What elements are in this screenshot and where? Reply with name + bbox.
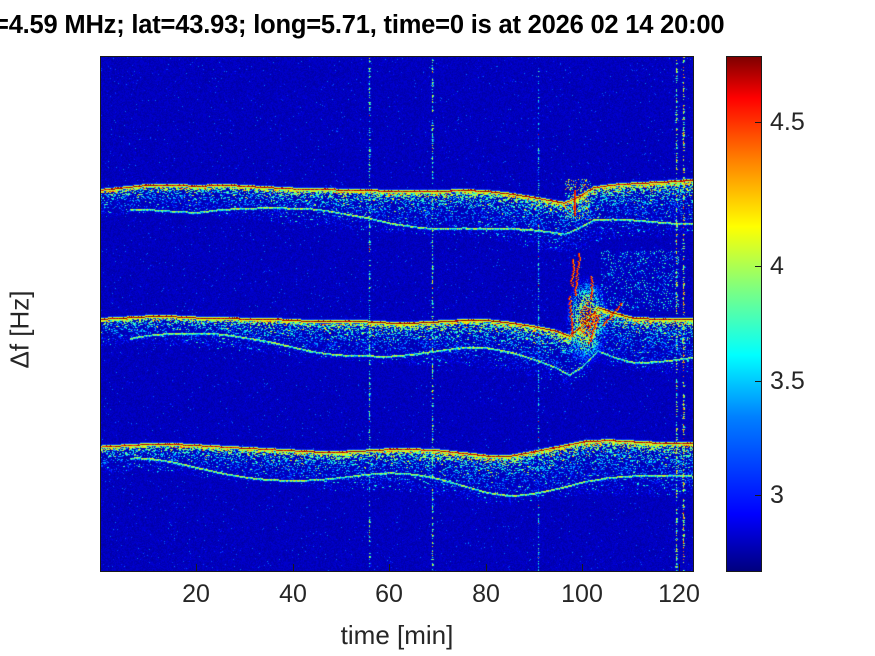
matlab-figure: =4.59 MHz; lat=43.93; long=5.71, time=0 … [0, 0, 875, 656]
x-tick-mark-120 [679, 564, 680, 572]
colorbar-tick-mark-4 [755, 266, 762, 267]
x-tick-label-60: 60 [334, 582, 444, 607]
spectrogram-image [101, 57, 694, 572]
x-tick-label-80: 80 [431, 582, 541, 607]
colorbar-tick-label-3: 3 [770, 483, 784, 508]
colorbar-tick-mark-4_5 [755, 122, 762, 123]
x-tick-mark-100 [582, 564, 583, 572]
y-axis-label: Δf [Hz] [5, 230, 36, 430]
colorbar-tick-label-3_5: 3.5 [770, 369, 805, 394]
x-tick-mark-80 [486, 564, 487, 572]
x-tick-mark-40 [293, 564, 294, 572]
x-tick-label-40: 40 [238, 582, 348, 607]
x-tick-mark-60 [389, 564, 390, 572]
colorbar-tick-label-4: 4 [770, 254, 784, 279]
chart-title: =4.59 MHz; lat=43.93; long=5.71, time=0 … [0, 8, 875, 42]
spectrogram-axes[interactable] [100, 56, 694, 572]
x-tick-mark-20 [196, 564, 197, 572]
colorbar-tick-mark-3_5 [755, 381, 762, 382]
x-tick-label-20: 20 [141, 582, 251, 607]
colorbar-tick-label-4_5: 4.5 [770, 110, 805, 135]
x-tick-label-100: 100 [527, 582, 637, 607]
colorbar-tick-mark-3 [755, 495, 762, 496]
x-axis-label: time [min] [100, 620, 694, 651]
x-tick-label-120: 120 [624, 582, 734, 607]
